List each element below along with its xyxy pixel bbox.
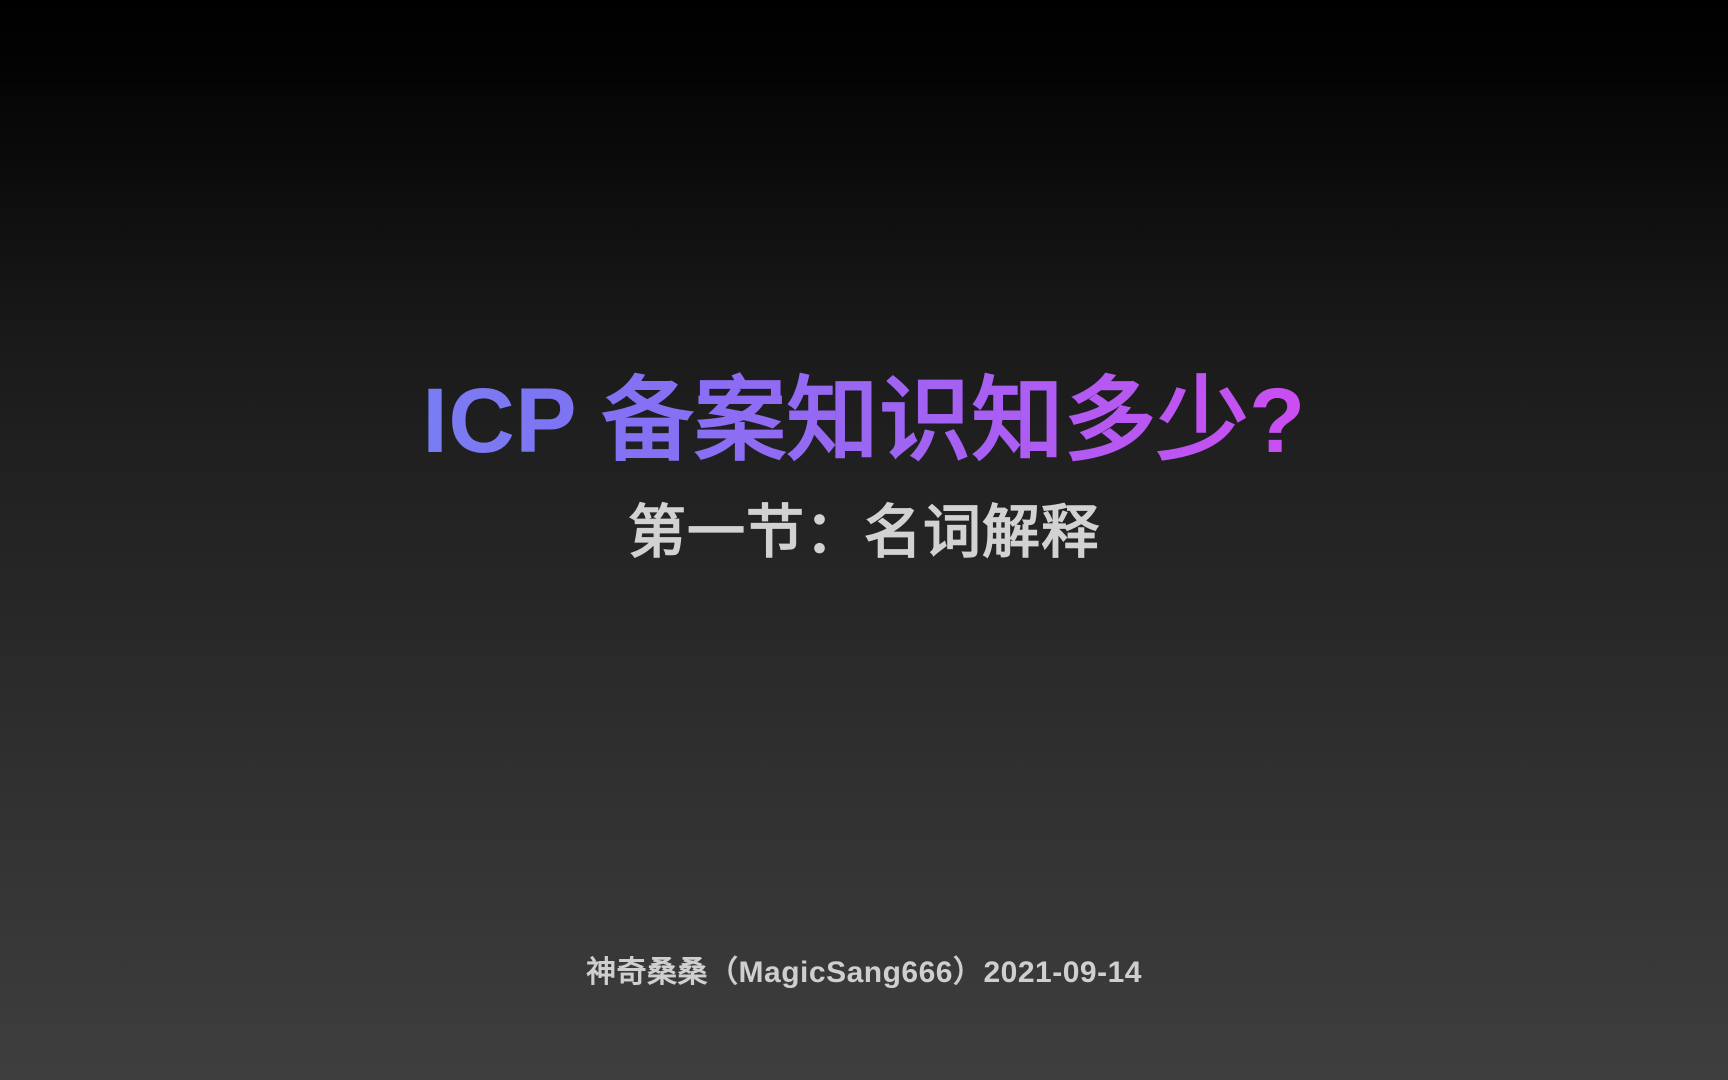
slide-footer-credit: 神奇桑桑（MagicSang666）2021-09-14: [0, 953, 1728, 992]
page-title: ICP 备案知识知多少?: [0, 372, 1728, 471]
presentation-slide: ICP 备案知识知多少? 第一节：名词解释 神奇桑桑（MagicSang666）…: [0, 0, 1728, 1080]
page-subtitle: 第一节：名词解释: [0, 500, 1728, 567]
